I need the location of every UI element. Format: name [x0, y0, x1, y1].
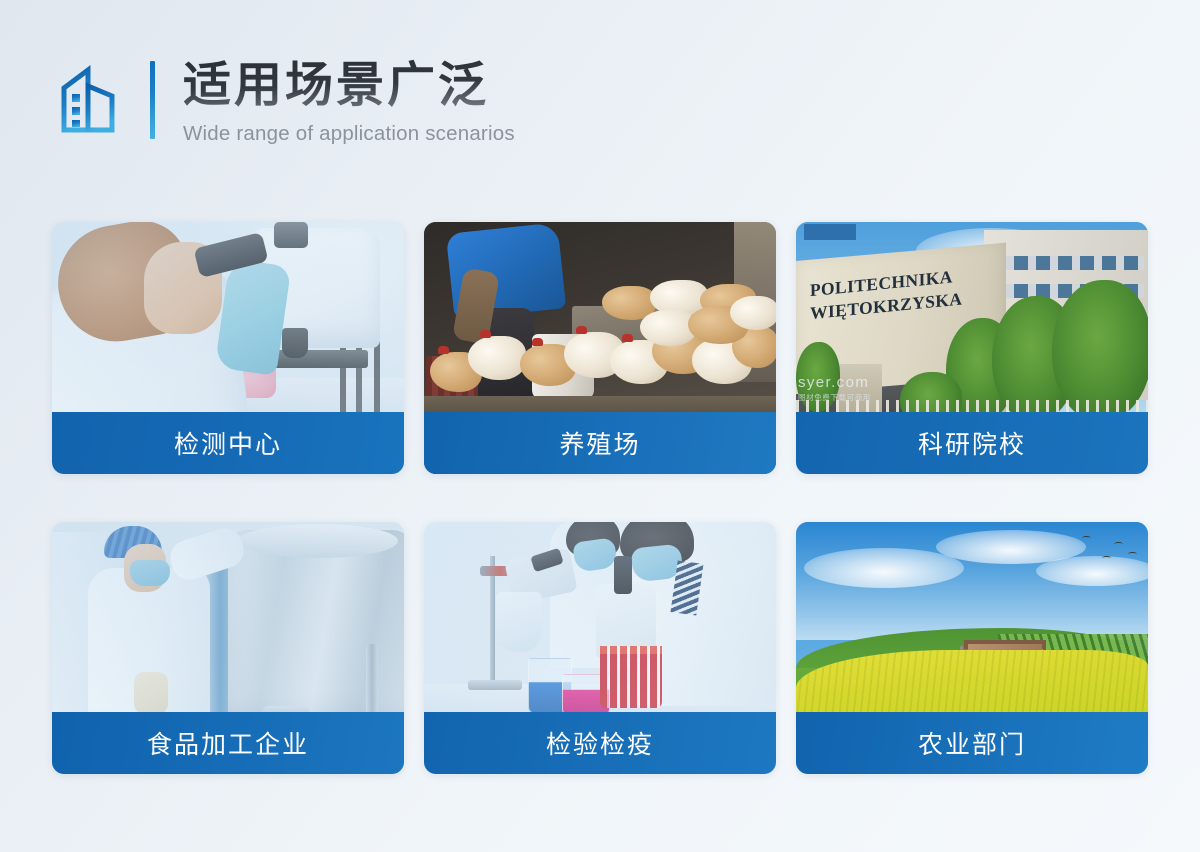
scenario-cards-grid: 检测中心: [52, 222, 1148, 774]
watermark-subtext: 图材免费下载可商用: [798, 392, 871, 403]
card-caption-food-processing: 食品加工企业: [52, 712, 404, 774]
header-text-group: 适用场景广泛 Wide range of application scenari…: [183, 54, 515, 146]
page-subtitle: Wide range of application scenarios: [183, 122, 515, 146]
scenario-card-food-processing[interactable]: 食品加工企业: [52, 522, 404, 774]
scenario-card-breeding-farm[interactable]: 养殖场: [424, 222, 776, 474]
image-watermark: syer.com 图材免费下载可商用: [798, 374, 871, 403]
card-caption-testing-center: 检测中心: [52, 412, 404, 474]
page-header: 适用场景广泛 Wide range of application scenari…: [0, 0, 1200, 200]
scenario-card-testing-center[interactable]: 检测中心: [52, 222, 404, 474]
card-caption-inspection-quarantine: 检验检疫: [424, 712, 776, 774]
card-caption-agriculture-department: 农业部门: [796, 712, 1148, 774]
page-title: 适用场景广泛: [183, 58, 515, 115]
card-caption-research-institute: 科研院校: [796, 412, 1148, 474]
building-icon: [58, 62, 130, 138]
card-caption-breeding-farm: 养殖场: [424, 412, 776, 474]
watermark-text: syer.com: [798, 374, 869, 391]
scenario-card-agriculture-department[interactable]: 农业部门: [796, 522, 1148, 774]
header-divider: [150, 61, 155, 139]
scenario-card-research-institute[interactable]: POLITECHNIKA WIĘTOKRZYSKA syer.com 图材免费下…: [796, 222, 1148, 474]
scenario-card-inspection-quarantine[interactable]: 检验检疫: [424, 522, 776, 774]
